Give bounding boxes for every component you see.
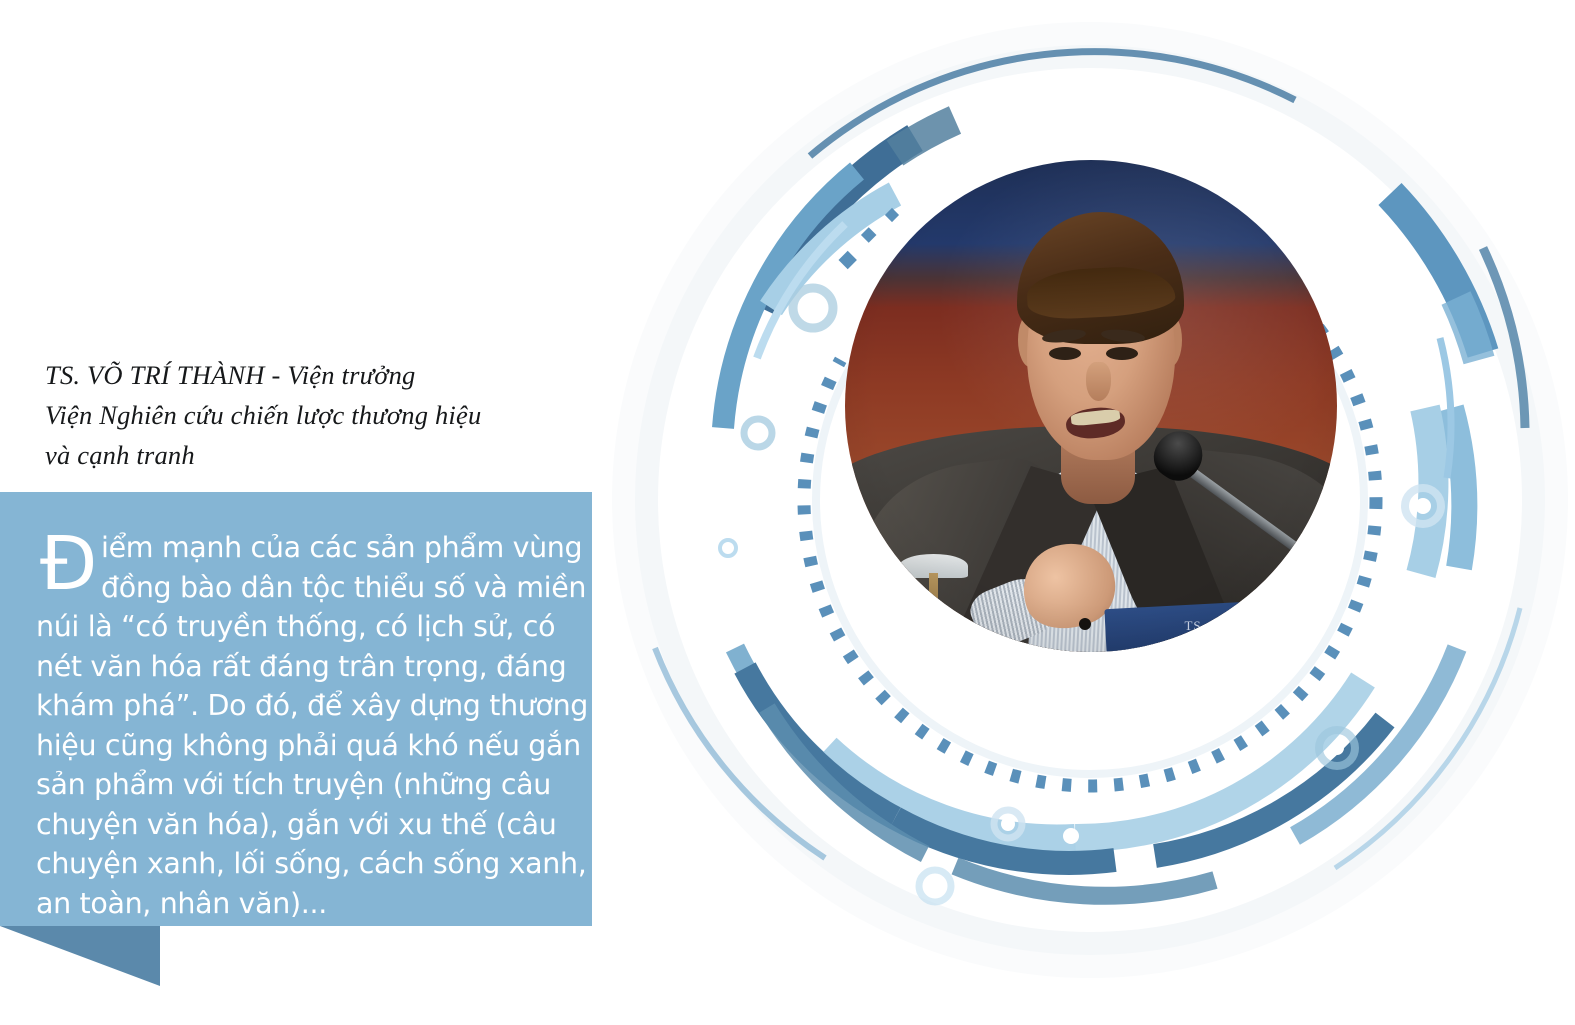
ring-node-l2 [720,540,736,556]
ring-node-l-dot [753,428,763,438]
quote-callout-tail [0,926,160,986]
quote-text: Điểm mạnh của các sản phẩm vùng đồng bào… [36,528,596,923]
infographic-quote-card: TS TS. VÕ TRÍ THÀNH - Viện trưởng Viện N… [0,0,1575,1025]
ring-node-br [1393,654,1409,670]
ring-node-ul-dot [804,299,822,317]
ring-node-b2 [1063,828,1079,844]
quote-body: iểm mạnh của các sản phẩm vùng đồng bào … [36,531,588,920]
speaker-portrait-photo: TS [845,160,1337,652]
ring-node-br2-dot [1330,741,1344,755]
quote-dropcap: Đ [36,530,101,596]
ring-node-b-dot [1001,817,1015,831]
ring-node-b3-dot [928,879,942,893]
ring-node-r-dot [1415,498,1431,514]
speaker-attribution: TS. VÕ TRÍ THÀNH - Viện trưởng Viện Nghi… [45,355,585,475]
photo-vignette [845,160,1337,652]
